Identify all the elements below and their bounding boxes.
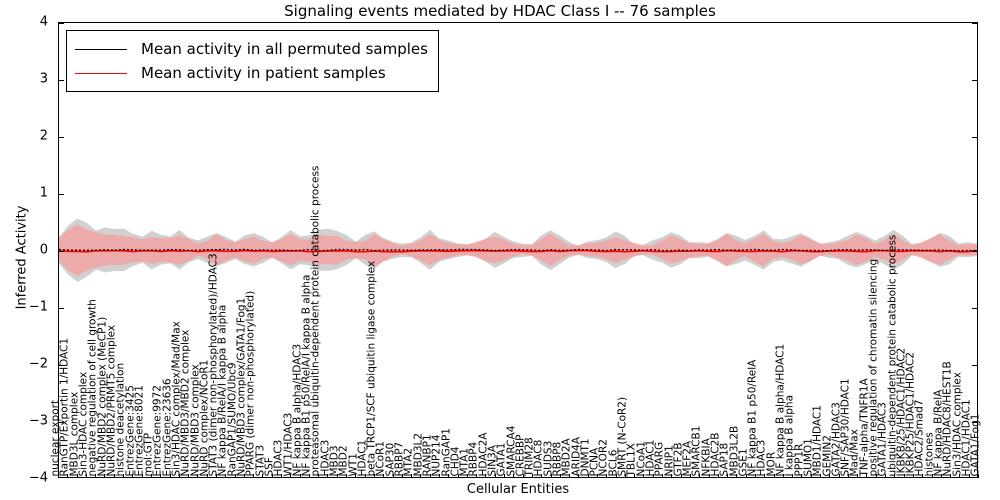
y-tick-label: 1 (40, 186, 48, 201)
x-tick-mark (978, 474, 979, 478)
y-tick-mark (59, 422, 64, 423)
y-tick-mark (59, 137, 64, 138)
y-tick-mark (59, 251, 64, 252)
chart-title: Signaling events mediated by HDAC Class … (0, 2, 1000, 20)
y-tick-mark-right (972, 422, 977, 423)
x-axis-label: Cellular Entities (58, 482, 978, 497)
y-tick-mark-right (972, 251, 977, 252)
y-tick-label: 4 (40, 15, 48, 30)
y-tick-label: 3 (40, 72, 48, 87)
legend-label-permuted: Mean activity in all permuted samples (141, 40, 428, 58)
y-tick-label: −2 (29, 357, 48, 372)
y-axis-label-wrapper: Inferred Activity (6, 22, 26, 478)
figure-canvas: Signaling events mediated by HDAC Class … (0, 0, 1000, 500)
y-tick-label: −3 (29, 414, 48, 429)
y-tick-mark (59, 365, 64, 366)
y-tick-label: −4 (29, 471, 48, 486)
y-tick-label: 2 (40, 129, 48, 144)
y-tick-mark-right (972, 194, 977, 195)
legend-swatch-patient (75, 73, 127, 74)
y-tick-mark-right (972, 80, 977, 81)
y-tick-mark-right (972, 23, 977, 24)
y-tick-mark (59, 80, 64, 81)
y-tick-label: 0 (40, 243, 48, 258)
legend-entry-patient: Mean activity in patient samples (75, 61, 428, 85)
y-tick-mark-right (972, 137, 977, 138)
y-tick-mark-right (972, 308, 977, 309)
y-tick-mark (59, 308, 64, 309)
legend-label-patient: Mean activity in patient samples (141, 64, 386, 82)
y-tick-mark (59, 194, 64, 195)
y-tick-mark-right (972, 365, 977, 366)
legend-swatch-permuted (75, 49, 127, 50)
y-tick-mark (59, 23, 64, 24)
legend-entry-permuted: Mean activity in all permuted samples (75, 37, 428, 61)
chart-legend[interactable]: Mean activity in all permuted samples Me… (66, 30, 439, 92)
y-tick-label: −1 (29, 300, 48, 315)
y-axis-label: Inferred Activity (15, 30, 30, 486)
